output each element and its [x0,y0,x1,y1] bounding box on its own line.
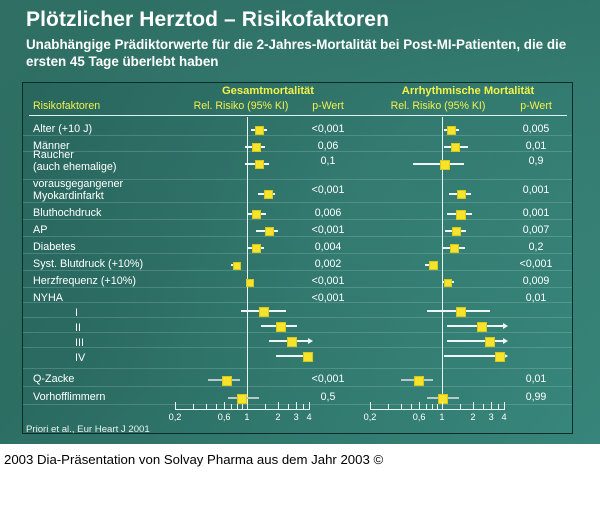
label-line-2: (auch ehemalige) [33,161,116,173]
axis-tick [498,404,499,410]
source-citation: Priori et al., Eur Heart J 2001 [26,424,150,435]
table-row-label: Syst. Blutdruck (+10%) [33,258,143,270]
pvalue-arrhythmic: 0,001 [501,184,571,196]
column-header-pvalue-total: p-Wert [289,100,367,112]
point-estimate-marker [456,210,466,220]
pvalue-arrhythmic: 0,01 [501,292,571,304]
point-estimate-marker [452,227,461,236]
point-estimate-marker [485,337,495,347]
axis-tick [437,404,438,410]
point-estimate-marker [233,262,241,270]
axis-tick-label: 3 [294,412,299,422]
confidence-interval-line [413,163,464,165]
table-row-label: III [75,337,84,349]
point-estimate-marker [287,337,297,347]
pvalue-arrhythmic: 0,001 [501,207,571,219]
axis-tick [206,404,207,410]
point-estimate-marker [255,126,264,135]
label-line-1: III [75,337,84,349]
axis-tick [411,404,412,410]
label-line-1: vorausgegangener [33,178,123,190]
slide-canvas: Plötzlicher Herztod – Risikofaktoren Una… [0,0,600,444]
x-axis-arrhythmic-mortality: 0,20,61234 [370,403,504,433]
axis-tick [303,404,304,410]
point-estimate-marker [429,261,438,270]
table-row-label: Vorhofflimmern [33,391,105,403]
point-estimate-marker [457,190,466,199]
label-line-1: Alter (+10 J) [33,123,92,135]
axis-tick-major [491,402,492,410]
column-header-risk-factors: Risikofaktoren [33,100,100,112]
point-estimate-marker [447,126,456,135]
table-row-label: Bluthochdruck [33,207,101,219]
axis-tick-major [473,402,474,410]
axis-tick [388,404,389,410]
pvalue-arrhythmic: 0,99 [501,391,571,403]
table-row-label: NYHA [33,292,63,304]
axis-tick-major [419,402,420,410]
pvalue-arrhythmic: 0,005 [501,123,571,135]
truncation-arrow-icon [503,338,508,344]
axis-tick-major [504,402,505,410]
point-estimate-marker [450,244,459,253]
table-row-label: vorausgegangenerMyokardinfarkt [33,178,123,203]
pvalue-arrhythmic: 0,009 [501,275,571,287]
axis-tick-major [278,402,279,410]
page-subtitle: Unabhängige Prädiktorwerte für die 2-Jah… [26,36,582,70]
forest-plot-total-mortality [175,117,309,403]
label-line-1: IV [75,352,85,364]
axis-tick [288,404,289,410]
axis-tick [426,404,427,410]
axis-tick [401,404,402,410]
axis-tick-label: 0,2 [364,412,377,422]
table-row-label: Raucher(auch ehemalige) [33,149,116,174]
axis-tick-label: 0,6 [218,412,231,422]
axis-tick-label: 0,6 [413,412,426,422]
table-row-label: Alter (+10 J) [33,123,92,135]
pvalue-arrhythmic: 0,01 [501,373,571,385]
forest-plot-arrhythmic-mortality [370,117,504,403]
pvalue-arrhythmic: 0,01 [501,140,571,152]
point-estimate-marker [456,307,466,317]
point-estimate-marker [255,160,264,169]
table-row-label: IV [75,352,85,364]
table-row-label: AP [33,224,47,236]
label-line-1: NYHA [33,292,63,304]
table-row-label: II [75,322,81,334]
label-line-1: Diabetes [33,241,76,253]
point-estimate-marker [414,376,424,386]
axis-tick [193,404,194,410]
label-line-1: Herzfrequenz (+10%) [33,275,136,287]
label-line-1: AP [33,224,47,236]
pvalue-arrhythmic: <0,001 [501,258,571,270]
axis-tick [237,404,238,410]
axis-tick-label: 4 [306,412,311,422]
axis-tick-major [370,402,371,410]
table-row-label: Herzfrequenz (+10%) [33,275,136,287]
point-estimate-marker [444,279,452,287]
axis-tick [460,404,461,410]
axis-tick-label: 3 [489,412,494,422]
axis-tick [432,404,433,410]
reference-line-1 [247,117,248,403]
point-estimate-marker [259,307,269,317]
point-estimate-marker [252,244,261,253]
x-axis-total-mortality: 0,20,61234 [175,403,309,433]
footer-caption: 2003 Dia-Präsentation von Solvay Pharma … [4,452,383,467]
confidence-interval-line [447,325,504,327]
point-estimate-marker [477,322,487,332]
axis-tick-label: 1 [439,412,444,422]
axis-tick-label: 1 [244,412,249,422]
group-header-arrhythmic-mortality: Arrhythmische Mortalität [368,85,568,97]
point-estimate-marker [440,160,450,170]
axis-tick-label: 2 [275,412,280,422]
truncation-arrow-icon [308,338,313,344]
axis-tick [242,404,243,410]
axis-tick-label: 0,2 [169,412,182,422]
label-line-1: Syst. Blutdruck (+10%) [33,258,143,270]
label-line-1: Bluthochdruck [33,207,101,219]
axis-tick [483,404,484,410]
label-line-1: Vorhofflimmern [33,391,105,403]
label-line-2: Myokardinfarkt [33,190,123,202]
point-estimate-marker [265,227,274,236]
point-estimate-marker [451,143,460,152]
pvalue-arrhythmic: 0,007 [501,224,571,236]
point-estimate-marker [252,210,261,219]
page-title: Plötzlicher Herztod – Risikofaktoren [26,8,389,32]
point-estimate-marker [222,376,232,386]
point-estimate-marker [246,279,254,287]
axis-tick-label: 4 [501,412,506,422]
label-line-1: Raucher [33,149,116,161]
confidence-interval-line [447,340,504,342]
axis-tick [231,404,232,410]
axis-tick-major [296,402,297,410]
column-header-pvalue-arrhythmic: p-Wert [501,100,571,112]
axis-tick-major [175,402,176,410]
point-estimate-marker [495,352,505,362]
axis-tick-major [247,402,248,410]
truncation-arrow-icon [503,323,508,329]
axis-tick [216,404,217,410]
pvalue-arrhythmic: 0,2 [501,241,571,253]
table-row-label: I [75,307,78,319]
label-line-1: Q-Zacke [33,373,74,385]
axis-tick-major [224,402,225,410]
axis-tick-major [442,402,443,410]
pvalue-arrhythmic: 0,9 [501,155,571,167]
table-row-label: Diabetes [33,241,76,253]
column-header-rel-risk-arrhythmic: Rel. Risiko (95% KI) [368,100,508,112]
axis-tick-major [309,402,310,410]
label-line-1: II [75,322,81,334]
point-estimate-marker [252,143,261,152]
axis-tick [265,404,266,410]
table-row-label: Q-Zacke [33,373,74,385]
axis-tick-label: 2 [470,412,475,422]
point-estimate-marker [303,352,313,362]
point-estimate-marker [276,322,286,332]
group-header-total-mortality: Gesamtmortalität [173,85,363,97]
point-estimate-marker [264,190,273,199]
forest-plot-table: Gesamtmortalität Arrhythmische Mortalitä… [22,82,573,434]
label-line-1: I [75,307,78,319]
